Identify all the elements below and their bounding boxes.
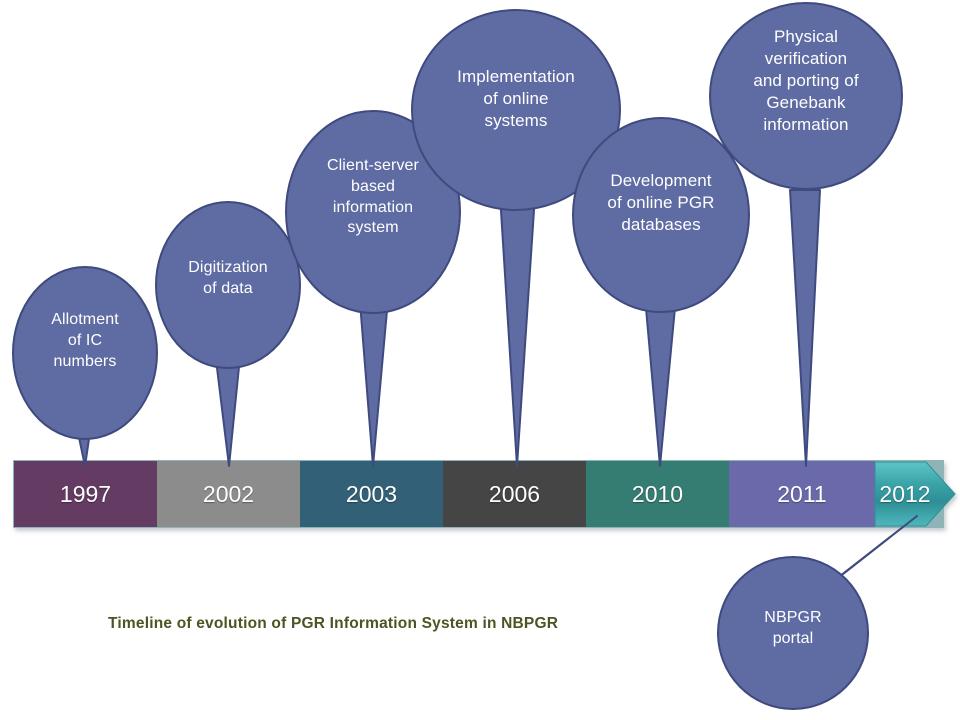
callout-2012-bubble xyxy=(718,557,868,709)
callout-2010-tail xyxy=(645,297,676,466)
callout-1997[interactable] xyxy=(13,267,157,466)
callout-2002-bubble xyxy=(156,202,300,368)
callout-2010[interactable] xyxy=(573,118,749,466)
timeline-segment-1997[interactable] xyxy=(14,461,157,527)
timeline-segment-2010[interactable] xyxy=(586,461,729,527)
callout-2010-bubble xyxy=(573,118,749,312)
timeline-segment-2003[interactable] xyxy=(300,461,443,527)
timeline-segment-2002[interactable] xyxy=(157,461,300,527)
callout-1997-bubble xyxy=(13,267,157,439)
callout-2012[interactable] xyxy=(718,516,917,709)
figure-caption: Timeline of evolution of PGR Information… xyxy=(108,615,558,633)
diagram-canvas xyxy=(0,0,960,720)
callout-2011-tail xyxy=(790,190,820,466)
timeline-segment-2006[interactable] xyxy=(443,461,586,527)
callout-2002[interactable] xyxy=(156,202,300,466)
callout-2006-tail xyxy=(500,195,535,466)
timeline-segment-2011[interactable] xyxy=(729,461,875,527)
timeline-diagram: 1997 2002 2003 2006 2010 2011 2012 Allot… xyxy=(0,0,960,720)
timeline-bar-group xyxy=(13,460,955,528)
callout-2011-bubble xyxy=(710,3,902,189)
callout-bubbles xyxy=(13,3,917,709)
